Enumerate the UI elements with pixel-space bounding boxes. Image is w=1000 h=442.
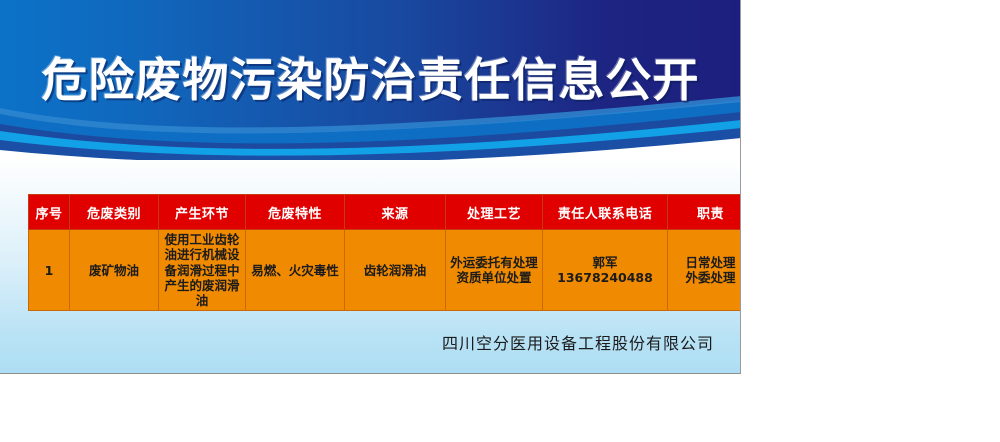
column-header-duty: 职责 — [668, 195, 742, 230]
cell-source: 齿轮润滑油 — [345, 230, 446, 311]
duty-line-1: 日常处理 — [671, 255, 741, 270]
column-header-source: 来源 — [345, 195, 446, 230]
contact-name: 郭军 — [546, 255, 664, 270]
column-header-treatment: 处理工艺 — [446, 195, 543, 230]
information-disclosure-poster: 危险废物污染防治责任信息公开 序号 危废类别 产生环节 危废特性 来源 处理工艺… — [0, 0, 741, 374]
cell-hazard-property: 易燃、火灾毒性 — [246, 230, 345, 311]
page-title: 危险废物污染防治责任信息公开 — [0, 44, 741, 110]
poster-banner: 危险废物污染防治责任信息公开 — [0, 0, 741, 160]
column-header-index: 序号 — [29, 195, 70, 230]
column-header-category: 危废类别 — [70, 195, 159, 230]
contact-phone: 13678240488 — [546, 270, 664, 285]
cell-contact: 郭军 13678240488 — [543, 230, 668, 311]
cell-generation-stage: 使用工业齿轮油进行机械设备润滑过程中产生的废润滑油 — [159, 230, 246, 311]
table-row: 1 废矿物油 使用工业齿轮油进行机械设备润滑过程中产生的废润滑油 易燃、火灾毒性… — [29, 230, 742, 311]
cell-category: 废矿物油 — [70, 230, 159, 311]
cell-treatment: 外运委托有处理资质单位处置 — [446, 230, 543, 311]
company-name: 四川空分医用设备工程股份有限公司 — [0, 330, 714, 354]
column-header-generation-stage: 产生环节 — [159, 195, 246, 230]
cell-duty: 日常处理 外委处理 — [668, 230, 742, 311]
table-header-row: 序号 危废类别 产生环节 危废特性 来源 处理工艺 责任人联系电话 职责 — [29, 195, 742, 230]
hazardous-waste-table: 序号 危废类别 产生环节 危废特性 来源 处理工艺 责任人联系电话 职责 1 废… — [28, 194, 741, 311]
column-header-hazard-property: 危废特性 — [246, 195, 345, 230]
duty-line-2: 外委处理 — [671, 270, 741, 285]
cell-index: 1 — [29, 230, 70, 311]
column-header-contact: 责任人联系电话 — [543, 195, 668, 230]
